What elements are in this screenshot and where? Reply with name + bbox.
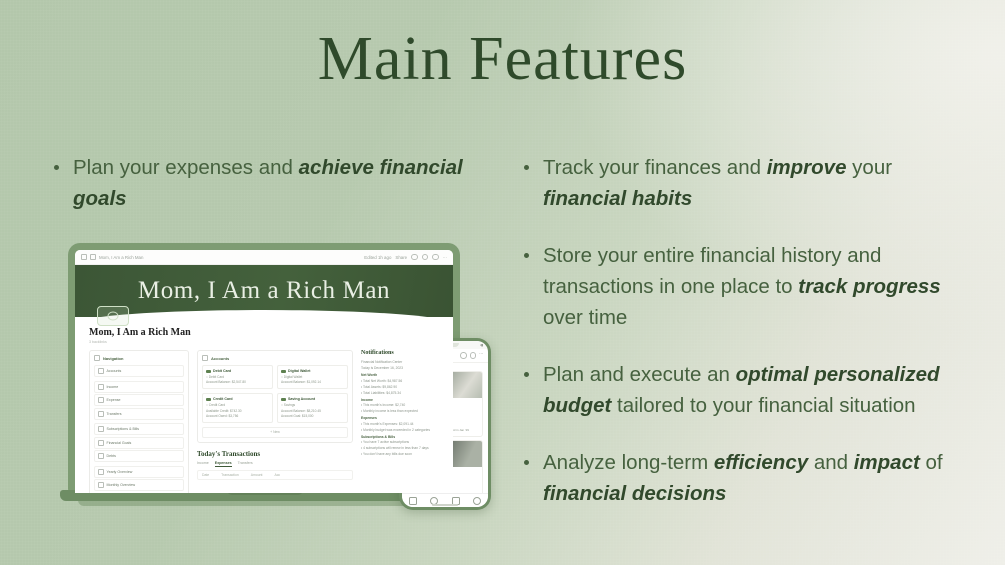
account-name-label: Debit Card — [213, 369, 231, 373]
more-icon[interactable]: ··· — [479, 352, 483, 359]
add-account-label: New — [273, 430, 280, 434]
accounts-grid: Debit Card○ Debit CardAccount Balance: $… — [202, 365, 348, 423]
account-name: Debit Card — [206, 369, 269, 373]
accounts-heading-label: Accounts — [211, 356, 229, 361]
sidebar-item-label: Transfers — [107, 412, 122, 416]
sidebar-item-label: Financial Goals — [107, 441, 132, 445]
feature-text: Track your finances and — [543, 156, 767, 179]
lock-icon[interactable] — [460, 352, 467, 359]
column-accounts: Accounts Debit Card○ Debit CardAccount B… — [197, 350, 353, 493]
home-icon[interactable] — [409, 497, 417, 505]
feature-text: your — [846, 156, 892, 179]
page-backlinks: 3 backlinks — [89, 340, 439, 344]
account-name: Saving Account — [281, 397, 344, 401]
account-balance: Account Owed: $3,756 — [206, 414, 269, 418]
comment-icon[interactable] — [411, 254, 418, 261]
notification-center-label: Financial Notification Center — [361, 360, 439, 364]
sidebar-item-monthly-overview[interactable]: Monthly Overview — [94, 479, 184, 491]
item-icon — [98, 440, 104, 446]
account-name-label: Digital Wallet — [288, 369, 310, 373]
accounts-heading: Accounts — [202, 355, 348, 361]
column-header[interactable]: Date — [202, 473, 209, 477]
account-type: ○ Savings — [281, 403, 344, 407]
feature-bullet: Store your entire financial history and … — [516, 240, 976, 333]
feature-emphasis: efficiency — [714, 451, 808, 474]
account-type: ○ Debit Card — [206, 375, 269, 379]
breadcrumb[interactable]: Mom, I Am a Rich Man — [81, 254, 143, 260]
account-balance: Account Balance: $1,092.14 — [281, 380, 344, 384]
sidebar-item-income[interactable]: Income — [94, 381, 184, 393]
notification-sections: Net Worth• Total Net Worth: $4,987.56• T… — [361, 373, 439, 456]
transaction-tabs: IncomeExpensesTransfers — [197, 461, 353, 467]
add-account-button[interactable]: + New — [202, 427, 348, 438]
account-chip-icon — [281, 370, 286, 373]
page-title: Main Features — [0, 24, 1005, 95]
feature-list-right: Track your finances and improve your fin… — [516, 152, 976, 509]
comment-icon[interactable] — [470, 352, 477, 359]
notification-line: • You have 7 active subscriptions — [361, 440, 439, 444]
transaction-table-header: DateTransactionAmountAcc — [197, 470, 353, 480]
feature-emphasis: financial decisions — [543, 482, 726, 505]
feature-emphasis: improve — [767, 156, 847, 179]
column-header[interactable]: Amount — [251, 473, 263, 477]
account-type: ○ Credit Card — [206, 403, 269, 407]
features-column-right: Track your finances and improve your fin… — [516, 152, 976, 535]
feature-emphasis: financial habits — [543, 187, 692, 210]
sidebar-item-label: Accounts — [107, 369, 122, 373]
account-balance: Account Balance: $2,547.80 — [206, 380, 269, 384]
sidebar-toggle-icon[interactable] — [81, 254, 87, 260]
account-name-label: Credit Card — [213, 397, 233, 401]
edited-label: Edited 1h ago — [364, 255, 391, 260]
transactions-heading: Today's Transactions — [197, 450, 353, 458]
accounts-card: Accounts Debit Card○ Debit CardAccount B… — [197, 350, 353, 443]
profile-icon[interactable] — [473, 497, 481, 505]
sidebar-item-label: Expense — [107, 398, 121, 402]
column-header[interactable]: Acc — [274, 473, 280, 477]
feature-text: over time — [543, 306, 627, 329]
sidebar-item-label: Subscriptions & Bills — [107, 427, 140, 431]
feature-text: tailored to your financial situation — [611, 394, 915, 417]
laptop-screen: Mom, I Am a Rich Man Edited 1h ago Share… — [75, 250, 453, 493]
banknote-icon — [97, 306, 129, 326]
account-chip-icon — [206, 370, 211, 373]
notion-page-body: Mom, I Am a Rich Man 3 backlinks Navigat… — [75, 317, 453, 493]
column-notifications: Notifications Financial Notification Cen… — [361, 350, 439, 493]
navigation-heading-label: Navigation — [103, 356, 123, 361]
item-icon — [98, 426, 104, 432]
account-balance: Account Balance: $8,210.45 — [281, 409, 344, 413]
account-balance: Account Goal: $15,000 — [281, 414, 344, 418]
account-chip-icon — [206, 398, 211, 401]
notification-line: • Total Net Worth: $4,987.56 — [361, 379, 439, 383]
notification-line: • This month's Expenses: $2,091.44 — [361, 422, 439, 426]
features-column-left: Plan your expenses and achieve financial… — [46, 152, 466, 240]
item-icon — [98, 453, 104, 459]
sidebar-item-accounts[interactable]: Accounts — [94, 365, 184, 377]
feature-text: Plan and execute an — [543, 363, 736, 386]
cover-title: Mom, I Am a Rich Man — [138, 277, 390, 305]
item-icon — [98, 411, 104, 417]
status-indicators: ▪▮ — [480, 343, 483, 347]
laptop-mockup: Mom, I Am a Rich Man Edited 1h ago Share… — [60, 243, 470, 509]
feature-bullet: Analyze long-term efficiency and impact … — [516, 447, 976, 509]
notification-line: • Monthly budget was exceeded in 2 categ… — [361, 428, 439, 432]
item-icon — [98, 482, 104, 488]
notification-line: • Total Liabilities: $4,875.34 — [361, 391, 439, 395]
feature-bullet: Plan your expenses and achieve financial… — [46, 152, 466, 214]
notification-section-title: Expenses — [361, 416, 439, 420]
notification-section-title: Net Worth — [361, 373, 439, 377]
clock-icon[interactable] — [422, 254, 429, 261]
item-icon — [98, 368, 104, 374]
transaction-tab-transfers[interactable]: Transfers — [238, 461, 253, 467]
toolbar-actions: Edited 1h ago Share ··· — [364, 254, 447, 261]
transaction-tab-income[interactable]: Income — [197, 461, 209, 467]
toggle-icon[interactable] — [202, 355, 208, 361]
page-icon — [90, 254, 96, 260]
feature-text: Analyze long-term — [543, 451, 714, 474]
item-icon — [98, 469, 104, 475]
toggle-icon[interactable] — [94, 355, 100, 361]
more-icon[interactable]: ··· — [443, 255, 447, 260]
feature-emphasis: impact — [854, 451, 920, 474]
sidebar-item-label: Yearly Overview — [107, 470, 133, 474]
share-button[interactable]: Share — [395, 255, 407, 260]
feature-emphasis: track progress — [798, 275, 940, 298]
account-name: Credit Card — [206, 397, 269, 401]
feature-text: and — [808, 451, 854, 474]
sidebar-item-transfers[interactable]: Transfers — [94, 408, 184, 420]
account-balance: Available Credit: $742.30 — [206, 409, 269, 413]
sidebar-item-subscriptions-bills[interactable]: Subscriptions & Bills — [94, 423, 184, 435]
account-card[interactable]: Debit Card○ Debit CardAccount Balance: $… — [202, 365, 273, 389]
notification-section-title: Income — [361, 398, 439, 402]
account-type: ○ Digital Wallet — [281, 375, 344, 379]
sidebar-item-expense[interactable]: Expense — [94, 394, 184, 406]
sidebar-item-yearly-overview[interactable]: Yearly Overview — [94, 466, 184, 478]
account-card[interactable]: Saving Account○ SavingsAccount Balance: … — [277, 393, 348, 423]
notion-page-title: Mom, I Am a Rich Man — [89, 327, 439, 338]
star-icon[interactable] — [432, 254, 439, 261]
home-indicator — [432, 504, 458, 506]
account-card[interactable]: Credit Card○ Credit CardAvailable Credit… — [202, 393, 273, 423]
notifications-heading: Notifications — [361, 350, 439, 356]
notification-line: • This month's Income: $2,740 — [361, 403, 439, 407]
feature-bullet: Plan and execute an optimal personalized… — [516, 359, 976, 421]
sidebar-item-label: Monthly Overview — [107, 483, 136, 487]
notification-line: • 4 subscriptions will renew in less tha… — [361, 446, 439, 450]
sidebar-item-label: Debts — [107, 454, 116, 458]
navigation-card: Navigation AccountsIncomeExpenseTransfer… — [89, 350, 189, 493]
account-chip-icon — [281, 398, 286, 401]
column-header[interactable]: Transaction — [221, 473, 239, 477]
item-icon — [98, 384, 104, 390]
phone-header-actions: ··· — [460, 352, 483, 359]
navigation-items: AccountsIncomeExpenseTransfersSubscripti… — [94, 365, 184, 493]
sidebar-item-label: Income — [107, 385, 119, 389]
page-cover: Mom, I Am a Rich Man — [75, 265, 453, 317]
notification-line: • You don't have any bills due soon — [361, 452, 439, 456]
notification-today: Today is December 16, 2023 — [361, 366, 439, 370]
notion-toolbar: Mom, I Am a Rich Man Edited 1h ago Share… — [75, 250, 453, 265]
notification-line: • Monthly income is less than expected — [361, 409, 439, 413]
navigation-heading: Navigation — [94, 355, 184, 361]
account-name: Digital Wallet — [281, 369, 344, 373]
feature-bullet: Track your finances and improve your fin… — [516, 152, 976, 214]
feature-text: of — [920, 451, 943, 474]
sidebar-item-financial-goals[interactable]: Financial Goals — [94, 437, 184, 449]
item-icon — [98, 397, 104, 403]
breadcrumb-label: Mom, I Am a Rich Man — [99, 255, 143, 260]
account-card[interactable]: Digital Wallet○ Digital WalletAccount Ba… — [277, 365, 348, 389]
account-name-label: Saving Account — [288, 397, 315, 401]
laptop-lid: Mom, I Am a Rich Man Edited 1h ago Share… — [68, 243, 460, 493]
page-columns: Navigation AccountsIncomeExpenseTransfer… — [89, 350, 439, 493]
column-navigation: Navigation AccountsIncomeExpenseTransfer… — [89, 350, 189, 493]
transaction-tab-expenses[interactable]: Expenses — [215, 461, 232, 467]
notification-section-title: Subscriptions & Bills — [361, 435, 439, 439]
sidebar-item-debts[interactable]: Debts — [94, 450, 184, 462]
feature-list-left: Plan your expenses and achieve financial… — [46, 152, 466, 214]
feature-text: Plan your expenses and — [73, 156, 299, 179]
notification-line: • Total Assets: $9,862.90 — [361, 385, 439, 389]
